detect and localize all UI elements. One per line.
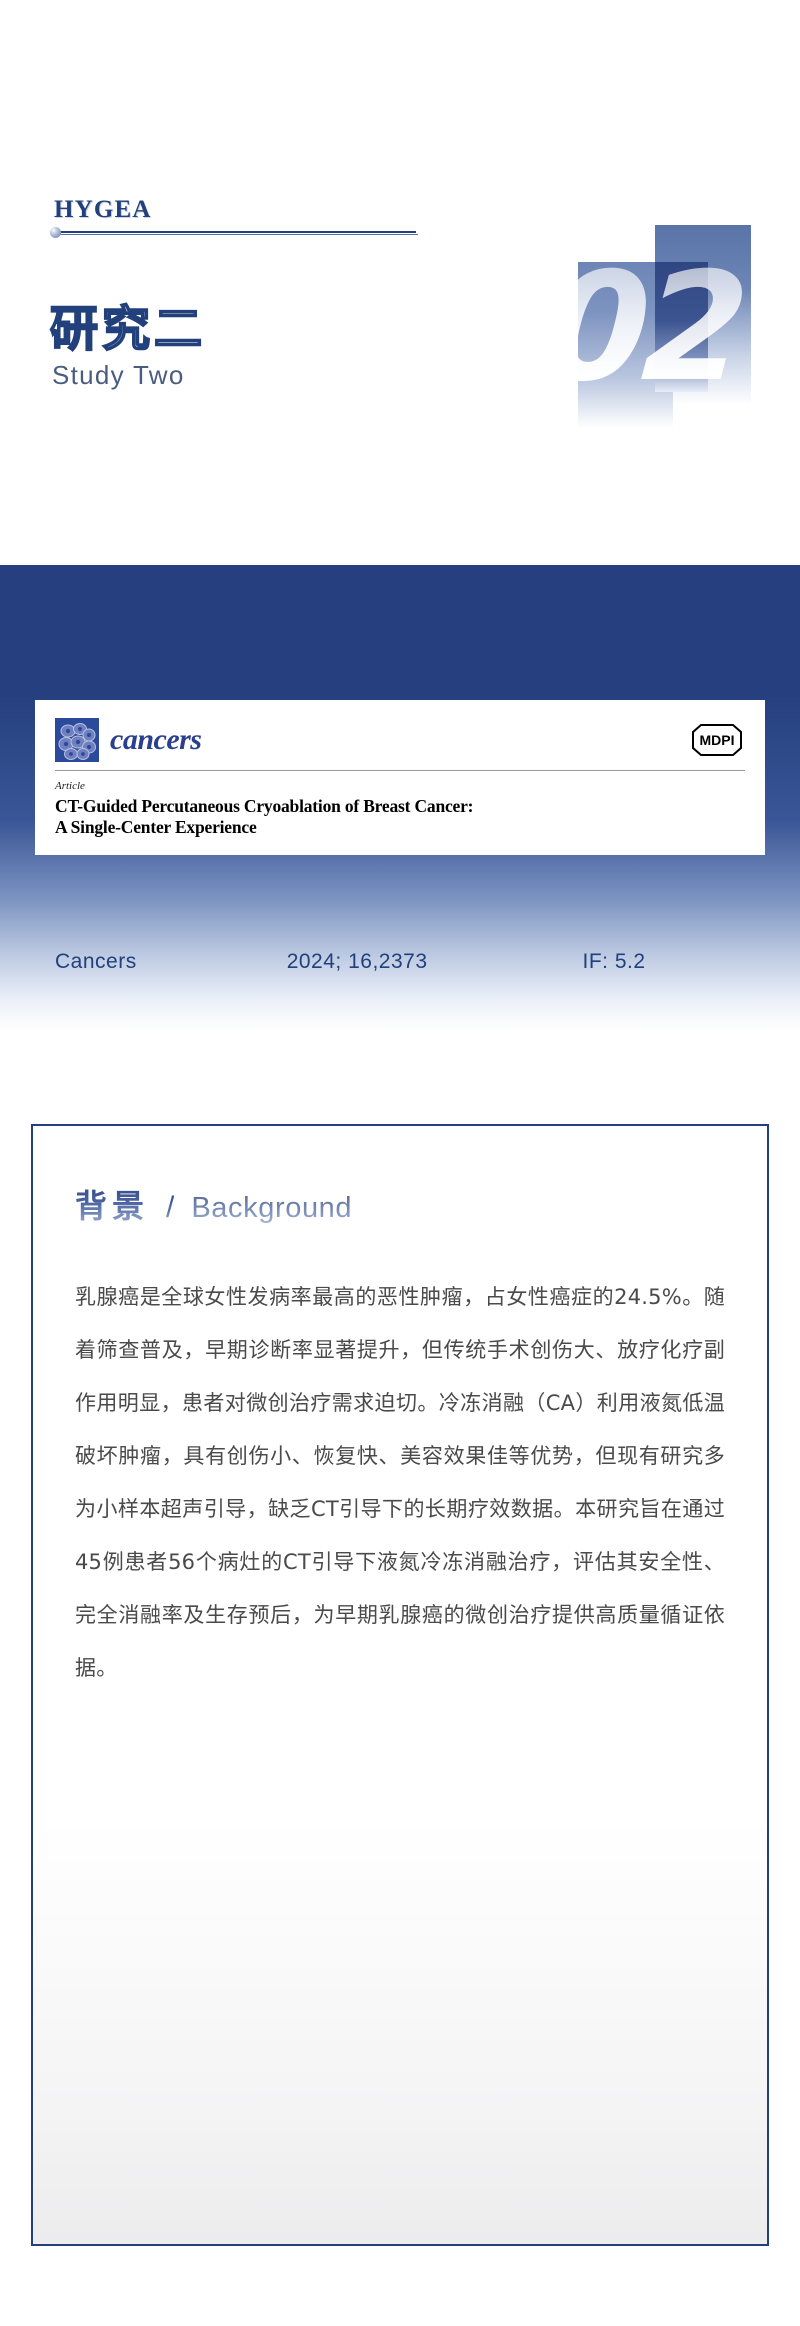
journal-divider [55, 770, 745, 771]
brand-logo: HYGEA [54, 196, 152, 224]
section-heading: 背景 / Background [75, 1181, 725, 1227]
decor-number-label: 02 [539, 243, 800, 418]
background-section-card: 背景 / Background 乳腺癌是全球女性发病率最高的恶性肿瘤，占女性癌症… [31, 1124, 769, 2246]
journal-card-header: cancers MDPI [55, 714, 745, 766]
decorative-number-graphic: 02 [545, 225, 800, 435]
journal-logo-text: cancers [110, 723, 201, 757]
brand-name: HYGEA [54, 196, 152, 224]
spacer [0, 1030, 800, 1124]
article-kind-label: Article [55, 780, 745, 793]
journal-meta-row: Cancers 2024; 16,2373 IF: 5.2 [0, 950, 800, 974]
decor-block-back [655, 225, 751, 405]
brand-dot-icon [50, 227, 61, 238]
meta-impact-factor: IF: 5.2 [583, 950, 646, 974]
journal-band: cancers MDPI Article CT-Guided Percutane… [0, 565, 800, 1030]
decor-block-dark [655, 262, 708, 392]
section-heading-en: Background [191, 1192, 352, 1225]
page-title-en: Study Two [52, 360, 185, 391]
meta-citation: 2024; 16,2373 [287, 950, 428, 974]
meta-journal-name: Cancers [55, 950, 137, 974]
mdpi-logo-icon: MDPI [689, 723, 745, 757]
journal-brand-group: cancers [55, 718, 201, 762]
journal-cover-card: cancers MDPI Article CT-Guided Percutane… [35, 700, 765, 855]
page-title-cn: 研究二 [50, 300, 206, 358]
section-heading-separator: / [166, 1191, 174, 1225]
brand-rule-secondary [56, 234, 418, 235]
hero-section: 02 HYGEA 研究二 Study Two [0, 0, 800, 565]
article-title: CT-Guided Percutaneous Cryoablation of B… [55, 796, 745, 838]
decor-block-front [578, 262, 673, 428]
section-body-text: 乳腺癌是全球女性发病率最高的恶性肿瘤，占女性癌症的24.5%。随着筛查普及，早期… [75, 1271, 725, 1695]
brand-rule-primary [56, 231, 416, 233]
section-heading-cn: 背景 [75, 1181, 149, 1227]
cancers-cells-icon [55, 718, 99, 762]
svg-text:MDPI: MDPI [700, 732, 735, 748]
